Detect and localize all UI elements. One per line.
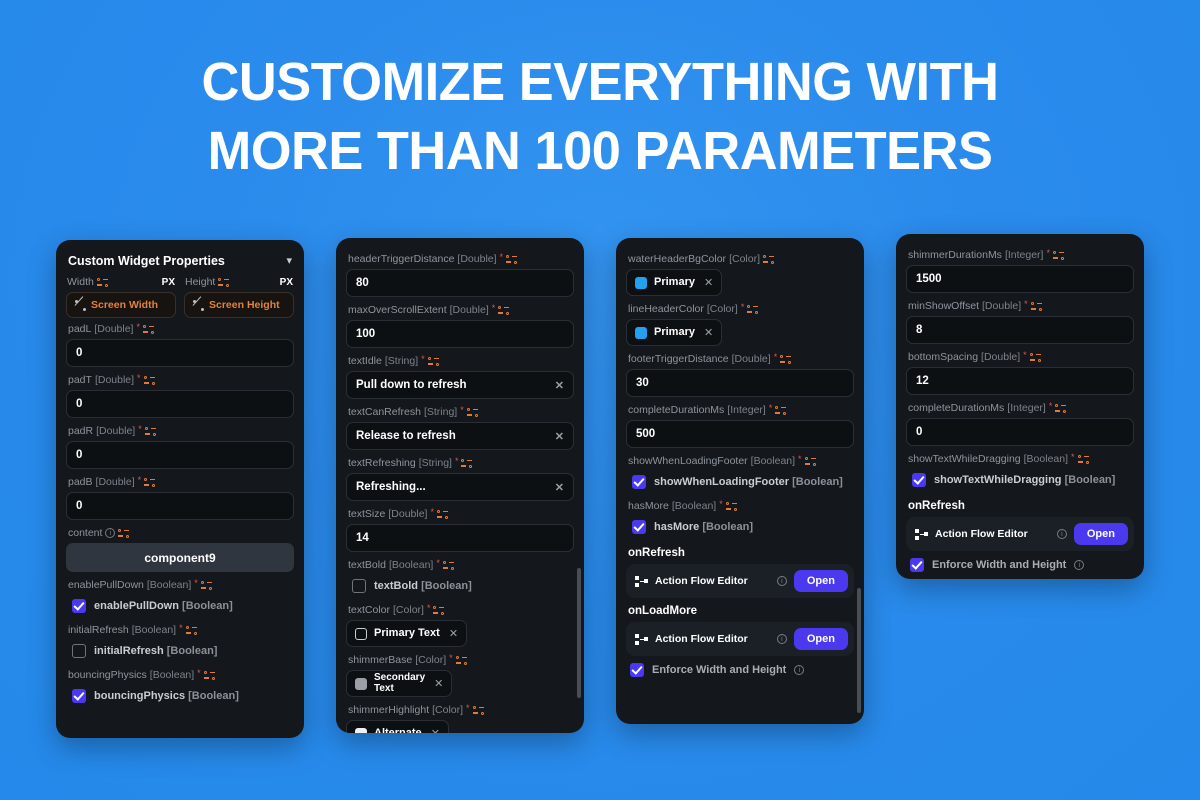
required-asterisk: * [430, 508, 434, 517]
width-label-group: Width [67, 276, 108, 288]
clear-icon[interactable]: ✕ [434, 677, 443, 690]
checkbox-row-hasMore[interactable]: hasMore [Boolean] [626, 516, 854, 538]
prop-initialRefresh: initialRefresh [Boolean] * initialRefres… [66, 619, 294, 662]
input-value: 500 [636, 428, 844, 440]
prop-textColor: textColor [Color] * Primary Text ✕ [346, 599, 574, 647]
variable-icon[interactable] [1078, 455, 1089, 464]
variable-icon[interactable] [763, 255, 774, 264]
checkbox-showWhenLoadingFooter[interactable] [632, 475, 646, 489]
label-text: showWhenLoadingFooter [628, 455, 748, 467]
cb-type: [Boolean] [182, 600, 233, 612]
color-name: Primary Text [374, 628, 440, 640]
prop-textColor-label: textColor [Color] * [346, 599, 574, 620]
headline-line-1: Customize everything with [202, 52, 999, 112]
prop-textBold: textBold [Boolean] * textBold [Boolean] [346, 554, 574, 597]
label-text: completeDurationMs [908, 402, 1004, 414]
required-asterisk: * [138, 425, 142, 434]
clear-icon[interactable]: ✕ [431, 727, 440, 733]
required-asterisk: * [427, 604, 431, 613]
type-text: [Integer] [1005, 249, 1044, 261]
prop-textSize-label: textSize [Double] * [346, 503, 574, 524]
variable-icon[interactable] [506, 255, 517, 264]
percent-icon [193, 300, 204, 311]
variable-icon[interactable] [467, 408, 478, 417]
headline-line-2: more than 100 parameters [18, 117, 1182, 186]
checkbox-label: bouncingPhysics [Boolean] [94, 690, 239, 702]
required-asterisk: * [1024, 300, 1028, 309]
variable-icon[interactable] [1055, 404, 1066, 413]
input-value: 100 [356, 328, 564, 340]
required-asterisk: * [179, 624, 183, 633]
required-asterisk: * [798, 455, 802, 464]
cb-name: showTextWhileDragging [934, 474, 1062, 486]
info-icon[interactable]: i [105, 528, 115, 538]
input-value: Pull down to refresh [356, 379, 555, 391]
checkbox-initialRefresh[interactable] [72, 644, 86, 658]
action-flow-editor-onLoadMore[interactable]: Action Flow Editor i Open [626, 622, 854, 656]
prop-shimmerDurationMs: shimmerDurationMs [Integer] * 1500 [906, 244, 1134, 293]
panel1-header[interactable]: Custom Widget Properties ▾ [66, 250, 294, 276]
label-text: initialRefresh [68, 624, 129, 636]
section-onLoadMore-title: onLoadMore [626, 598, 854, 622]
width-control: Width PX Screen Width [66, 276, 176, 318]
required-asterisk: * [1049, 402, 1053, 411]
required-asterisk: * [138, 476, 142, 485]
label-text: hasMore [628, 500, 669, 512]
input-minShowOffset[interactable]: 8 [906, 316, 1134, 344]
label-text: padT [68, 374, 92, 386]
type-text: [Double] [732, 353, 771, 365]
input-textSize[interactable]: 14 [346, 524, 574, 552]
input-value: 0 [916, 426, 1124, 438]
required-asterisk: * [500, 253, 504, 262]
label-text: shimmerDurationMs [908, 249, 1002, 261]
prop-enablePullDown-label: enablePullDown [Boolean] * [66, 574, 294, 595]
prop-hasMore: hasMore [Boolean] * hasMore [Boolean] [626, 495, 854, 538]
label-text: padB [68, 476, 93, 488]
required-asterisk: * [460, 406, 464, 415]
type-text: [Boolean] [147, 579, 191, 591]
variable-icon[interactable] [1030, 353, 1041, 362]
variable-icon[interactable] [461, 459, 472, 468]
prop-waterHeaderBgColor: waterHeaderBgColor [Color] Primary ✕ [626, 248, 854, 296]
prop-enablePullDown: enablePullDown [Boolean] * enablePullDow… [66, 574, 294, 617]
info-icon[interactable]: i [794, 665, 804, 675]
checkbox-row-showTextWhileDragging[interactable]: showTextWhileDragging [Boolean] [906, 469, 1134, 491]
open-button-onLoadMore[interactable]: Open [794, 628, 848, 650]
input-value: 8 [916, 324, 1124, 336]
input-shimmerDurationMs[interactable]: 1500 [906, 265, 1134, 293]
height-unit: PX [280, 277, 293, 288]
type-text: [Integer] [727, 404, 766, 416]
required-asterisk: * [136, 323, 140, 332]
cb-name: bouncingPhysics [94, 690, 185, 702]
variable-icon[interactable] [433, 606, 444, 615]
required-asterisk: * [719, 500, 723, 509]
input-value: 0 [76, 347, 284, 359]
clear-icon[interactable]: ✕ [555, 379, 564, 392]
variable-icon[interactable] [1031, 302, 1042, 311]
required-asterisk: * [194, 579, 198, 588]
prop-content-label: content i [66, 522, 294, 543]
input-padT[interactable]: 0 [66, 390, 294, 418]
type-text: [Double] [94, 323, 133, 335]
required-asterisk: * [466, 704, 470, 713]
property-panels-row: Custom Widget Properties ▾ Width PX [0, 240, 1200, 740]
prop-bouncingPhysics: bouncingPhysics [Boolean] * bouncingPhys… [66, 664, 294, 707]
prop-minShowOffset: minShowOffset [Double] * 8 [906, 295, 1134, 344]
label-text: showTextWhileDragging [908, 453, 1021, 465]
input-value: 0 [76, 500, 284, 512]
type-text: [String] [424, 406, 457, 418]
height-label-group: Height [185, 276, 229, 288]
cb-name: initialRefresh [94, 645, 164, 657]
input-completeDurationMs-p4[interactable]: 0 [906, 418, 1134, 446]
type-text: [Boolean] [150, 669, 194, 681]
color-chip-textColor[interactable]: Primary Text ✕ [346, 620, 467, 647]
prop-padL-label: padL [Double] * [66, 318, 294, 339]
checkbox-label: showTextWhileDragging [Boolean] [934, 474, 1115, 486]
clear-icon[interactable]: ✕ [555, 430, 564, 443]
label-text: textColor [348, 604, 390, 616]
checkbox-enforce-width-height[interactable] [630, 663, 644, 677]
required-asterisk: * [774, 353, 778, 362]
variable-icon[interactable] [186, 626, 197, 635]
prop-padR: padR [Double] * 0 [66, 420, 294, 469]
checkbox-row-enablePullDown[interactable]: enablePullDown [Boolean] [66, 595, 294, 617]
prop-maxOverScrollExtent-label: maxOverScrollExtent [Double] * [346, 299, 574, 320]
prop-completeDurationMs: completeDurationMs [Integer] * 500 [626, 399, 854, 448]
type-text: [Color] [729, 253, 760, 265]
cb-name: enablePullDown [94, 600, 179, 612]
input-value: 14 [356, 532, 564, 544]
height-control: Height PX Screen Height [184, 276, 294, 318]
variable-icon[interactable] [145, 427, 156, 436]
type-text: [String] [385, 355, 418, 367]
color-name: Primary [654, 327, 695, 339]
prop-minShowOffset-label: minShowOffset [Double] * [906, 295, 1134, 316]
prop-showTextWhileDragging-label: showTextWhileDragging [Boolean] * [906, 448, 1134, 469]
checkbox-row-textBold[interactable]: textBold [Boolean] [346, 575, 574, 597]
color-chip-shimmerHighlight[interactable]: Alternate ✕ [346, 720, 449, 733]
input-value: 1500 [916, 273, 1124, 285]
checkbox-bouncingPhysics[interactable] [72, 689, 86, 703]
variable-icon[interactable] [747, 305, 758, 314]
label-text: headerTriggerDistance [348, 253, 454, 265]
prop-padT-label: padT [Double] * [66, 369, 294, 390]
prop-shimmerBase: shimmerBase [Color] * Secondary Text ✕ [346, 649, 574, 697]
screen-width-button[interactable]: Screen Width [66, 292, 176, 318]
clear-icon[interactable]: ✕ [555, 481, 564, 494]
type-text: [String] [419, 457, 452, 469]
panel1-title: Custom Widget Properties [68, 254, 225, 268]
input-value: 0 [76, 449, 284, 461]
section-onRefresh-title-p4: onRefresh [906, 493, 1134, 517]
color-chip-shimmerBase[interactable]: Secondary Text ✕ [346, 670, 452, 697]
type-text: [Boolean] [1024, 453, 1068, 465]
prop-content: content i component9 [66, 522, 294, 572]
prop-lineHeaderColor: lineHeaderColor [Color] * Primary ✕ [626, 298, 854, 346]
flow-icon [915, 529, 928, 540]
variable-icon[interactable] [456, 656, 467, 665]
label-text: footerTriggerDistance [628, 353, 729, 365]
panel-footer-callback-properties: waterHeaderBgColor [Color] Primary ✕ lin… [616, 238, 864, 724]
color-swatch [355, 628, 367, 640]
label-text: minShowOffset [908, 300, 979, 312]
variable-icon[interactable] [498, 306, 509, 315]
width-label: Width [67, 276, 94, 288]
label-text: textRefreshing [348, 457, 416, 469]
type-text: [Color] [432, 704, 463, 716]
type-text: [Double] [96, 476, 135, 488]
prop-footerTriggerDistance: footerTriggerDistance [Double] * 30 [626, 348, 854, 397]
input-value: 30 [636, 377, 844, 389]
variable-icon[interactable] [775, 406, 786, 415]
input-value: 12 [916, 375, 1124, 387]
type-text: [Boolean] [132, 624, 176, 636]
color-chip-waterHeaderBgColor[interactable]: Primary ✕ [626, 269, 722, 296]
variable-icon[interactable] [218, 278, 229, 287]
type-text: [Double] [96, 425, 135, 437]
prop-textBold-label: textBold [Boolean] * [346, 554, 574, 575]
prop-bouncingPhysics-label: bouncingPhysics [Boolean] * [66, 664, 294, 685]
input-textIdle[interactable]: Pull down to refresh ✕ [346, 371, 574, 399]
prop-showWhenLoadingFooter: showWhenLoadingFooter [Boolean] * showWh… [626, 450, 854, 493]
checkbox-label: showWhenLoadingFooter [Boolean] [654, 476, 843, 488]
type-text: [Boolean] [751, 455, 795, 467]
cb-name: textBold [374, 580, 418, 592]
prop-textCanRefresh-label: textCanRefresh [String] * [346, 401, 574, 422]
checkbox-row-initialRefresh[interactable]: initialRefresh [Boolean] [66, 640, 294, 662]
percent-icon [75, 300, 86, 311]
cb-name: hasMore [654, 521, 699, 533]
input-textRefreshing[interactable]: Refreshing... ✕ [346, 473, 574, 501]
clear-icon[interactable]: ✕ [449, 627, 458, 640]
color-swatch [635, 327, 647, 339]
flow-icon [635, 634, 648, 645]
type-text: [Color] [393, 604, 424, 616]
label-text: bottomSpacing [908, 351, 978, 363]
label-text: completeDurationMs [628, 404, 724, 416]
prop-padB: padB [Double] * 0 [66, 471, 294, 520]
type-text: [Double] [457, 253, 496, 265]
checkbox-label: hasMore [Boolean] [654, 521, 753, 533]
info-icon[interactable]: i [1074, 560, 1084, 570]
prop-shimmerBase-label: shimmerBase [Color] * [346, 649, 574, 670]
type-text: [Double] [388, 508, 427, 520]
poster-stage: Customize everything with more than 100 … [0, 0, 1200, 800]
color-chip-lineHeaderColor[interactable]: Primary ✕ [626, 319, 722, 346]
input-padL[interactable]: 0 [66, 339, 294, 367]
variable-icon[interactable] [443, 561, 454, 570]
color-name: Alternate [374, 728, 422, 733]
flow-icon [635, 576, 648, 587]
checkbox-label: initialRefresh [Boolean] [94, 645, 217, 657]
label-text: waterHeaderBgColor [628, 253, 726, 265]
prop-padB-label: padB [Double] * [66, 471, 294, 492]
section-onRefresh-title: onRefresh [626, 540, 854, 564]
screen-height-label: Screen Height [209, 299, 280, 311]
variable-icon[interactable] [726, 502, 737, 511]
label-text: maxOverScrollExtent [348, 304, 447, 316]
checkbox-showTextWhileDragging[interactable] [912, 473, 926, 487]
width-unit: PX [162, 277, 175, 288]
screen-width-label: Screen Width [91, 299, 158, 311]
label-text: textSize [348, 508, 385, 520]
height-head: Height PX [184, 276, 294, 292]
required-asterisk: * [1046, 249, 1050, 258]
cb-type: [Boolean] [702, 521, 753, 533]
prop-textRefreshing: textRefreshing [String] * Refreshing... … [346, 452, 574, 501]
prop-bottomSpacing: bottomSpacing [Double] * 12 [906, 346, 1134, 395]
label-text: lineHeaderColor [628, 303, 704, 315]
input-maxOverScrollExtent[interactable]: 100 [346, 320, 574, 348]
required-asterisk: * [769, 404, 773, 413]
required-asterisk: * [436, 559, 440, 568]
input-value: Refreshing... [356, 481, 555, 493]
prop-showTextWhileDragging: showTextWhileDragging [Boolean] * showTe… [906, 448, 1134, 491]
label-text: content [68, 527, 102, 539]
type-text: [Double] [982, 300, 1021, 312]
prop-textIdle: textIdle [String] * Pull down to refresh… [346, 350, 574, 399]
variable-icon[interactable] [1053, 251, 1064, 260]
checkbox-hasMore[interactable] [632, 520, 646, 534]
prop-completeDurationMs-p4: completeDurationMs [Integer] * 0 [906, 397, 1134, 446]
prop-padL: padL [Double] * 0 [66, 318, 294, 367]
prop-initialRefresh-label: initialRefresh [Boolean] * [66, 619, 294, 640]
label-text: shimmerHighlight [348, 704, 429, 716]
required-asterisk: * [1071, 453, 1075, 462]
label-text: textBold [348, 559, 386, 571]
type-text: [Double] [450, 304, 489, 316]
enforce-label: Enforce Width and Height [652, 664, 786, 676]
component-button[interactable]: component9 [66, 543, 294, 572]
panel-refresh-text-properties: headerTriggerDistance [Double] * 80 maxO… [336, 238, 584, 733]
prop-lineHeaderColor-label: lineHeaderColor [Color] * [626, 298, 854, 319]
required-asterisk: * [421, 355, 425, 364]
checkbox-label: enablePullDown [Boolean] [94, 600, 233, 612]
cb-type: [Boolean] [188, 690, 239, 702]
action-flow-editor-onRefresh-p4[interactable]: Action Flow Editor i Open [906, 517, 1134, 551]
input-value: 80 [356, 277, 564, 289]
variable-icon[interactable] [204, 671, 215, 680]
prop-completeDurationMs-label: completeDurationMs [Integer] * [626, 399, 854, 420]
input-completeDurationMs[interactable]: 500 [626, 420, 854, 448]
color-swatch [355, 728, 367, 734]
input-headerTriggerDistance[interactable]: 80 [346, 269, 574, 297]
chevron-down-icon[interactable]: ▾ [286, 256, 292, 267]
prop-shimmerDurationMs-label: shimmerDurationMs [Integer] * [906, 244, 1134, 265]
type-text: [Double] [981, 351, 1020, 363]
variable-icon[interactable] [428, 357, 439, 366]
type-text: [Color] [415, 654, 446, 666]
prop-textSize: textSize [Double] * 14 [346, 503, 574, 552]
prop-shimmerHighlight: shimmerHighlight [Color] * Alternate ✕ [346, 699, 574, 733]
cb-type: [Boolean] [167, 645, 218, 657]
variable-icon[interactable] [97, 278, 108, 287]
variable-icon[interactable] [118, 529, 129, 538]
required-asterisk: * [1023, 351, 1027, 360]
cb-name: showWhenLoadingFooter [654, 476, 789, 488]
panel-custom-widget-properties: Custom Widget Properties ▾ Width PX [56, 240, 304, 738]
prop-bottomSpacing-label: bottomSpacing [Double] * [906, 346, 1134, 367]
action-flow-editor-onRefresh[interactable]: Action Flow Editor i Open [626, 564, 854, 598]
clear-icon[interactable]: ✕ [704, 326, 713, 339]
variable-icon[interactable] [144, 376, 155, 385]
action-flow-editor-label: Action Flow Editor [655, 575, 770, 587]
required-asterisk: * [492, 304, 496, 313]
label-text: textCanRefresh [348, 406, 421, 418]
enforce-width-height-row[interactable]: Enforce Width and Height i [626, 656, 854, 683]
type-text: [Boolean] [389, 559, 433, 571]
info-icon[interactable]: i [1057, 529, 1067, 539]
label-text: padL [68, 323, 91, 335]
required-asterisk: * [137, 374, 141, 383]
type-text: [Color] [707, 303, 738, 315]
input-padR[interactable]: 0 [66, 441, 294, 469]
enforce-label: Enforce Width and Height [932, 559, 1066, 571]
panel3-scrollbar[interactable] [857, 588, 861, 713]
color-name: Primary [654, 277, 695, 289]
prop-padR-label: padR [Double] * [66, 420, 294, 441]
prop-textRefreshing-label: textRefreshing [String] * [346, 452, 574, 473]
panel2-scrollbar[interactable] [577, 568, 581, 698]
input-bottomSpacing[interactable]: 12 [906, 367, 1134, 395]
required-asterisk: * [455, 457, 459, 466]
cb-type: [Boolean] [792, 476, 843, 488]
label-text: shimmerBase [348, 654, 412, 666]
prop-showWhenLoadingFooter-label: showWhenLoadingFooter [Boolean] * [626, 450, 854, 471]
variable-icon[interactable] [437, 510, 448, 519]
type-text: [Boolean] [672, 500, 716, 512]
required-asterisk: * [741, 303, 745, 312]
input-padB[interactable]: 0 [66, 492, 294, 520]
label-text: bouncingPhysics [68, 669, 147, 681]
prop-maxOverScrollExtent: maxOverScrollExtent [Double] * 100 [346, 299, 574, 348]
clear-icon[interactable]: ✕ [704, 276, 713, 289]
action-flow-editor-label: Action Flow Editor [655, 633, 770, 645]
page-title: Customize everything with more than 100 … [18, 48, 1182, 186]
info-icon[interactable]: i [777, 576, 787, 586]
action-flow-editor-label: Action Flow Editor [935, 528, 1050, 540]
screen-height-button[interactable]: Screen Height [184, 292, 294, 318]
prop-headerTriggerDistance: headerTriggerDistance [Double] * 80 [346, 248, 574, 297]
prop-completeDurationMs-p4-label: completeDurationMs [Integer] * [906, 397, 1134, 418]
open-button-onRefresh[interactable]: Open [794, 570, 848, 592]
variable-icon[interactable] [805, 457, 816, 466]
input-textCanRefresh[interactable]: Release to refresh ✕ [346, 422, 574, 450]
type-text: [Double] [95, 374, 134, 386]
checkbox-row-showWhenLoadingFooter[interactable]: showWhenLoadingFooter [Boolean] [626, 471, 854, 493]
cb-type: [Boolean] [421, 580, 472, 592]
prop-waterHeaderBgColor-label: waterHeaderBgColor [Color] [626, 248, 854, 269]
variable-icon[interactable] [780, 355, 791, 364]
variable-icon[interactable] [143, 325, 154, 334]
width-height-row: Width PX Screen Width Height [66, 276, 294, 318]
checkbox-textBold[interactable] [352, 579, 366, 593]
enforce-width-height-row-p4[interactable]: Enforce Width and Height i [906, 551, 1134, 578]
variable-icon[interactable] [201, 581, 212, 590]
prop-textIdle-label: textIdle [String] * [346, 350, 574, 371]
variable-icon[interactable] [473, 706, 484, 715]
checkbox-enablePullDown[interactable] [72, 599, 86, 613]
input-footerTriggerDistance[interactable]: 30 [626, 369, 854, 397]
checkbox-enforce-width-height[interactable] [910, 558, 924, 572]
variable-icon[interactable] [144, 478, 155, 487]
checkbox-row-bouncingPhysics[interactable]: bouncingPhysics [Boolean] [66, 685, 294, 707]
info-icon[interactable]: i [777, 634, 787, 644]
open-button-onRefresh-p4[interactable]: Open [1074, 523, 1128, 545]
